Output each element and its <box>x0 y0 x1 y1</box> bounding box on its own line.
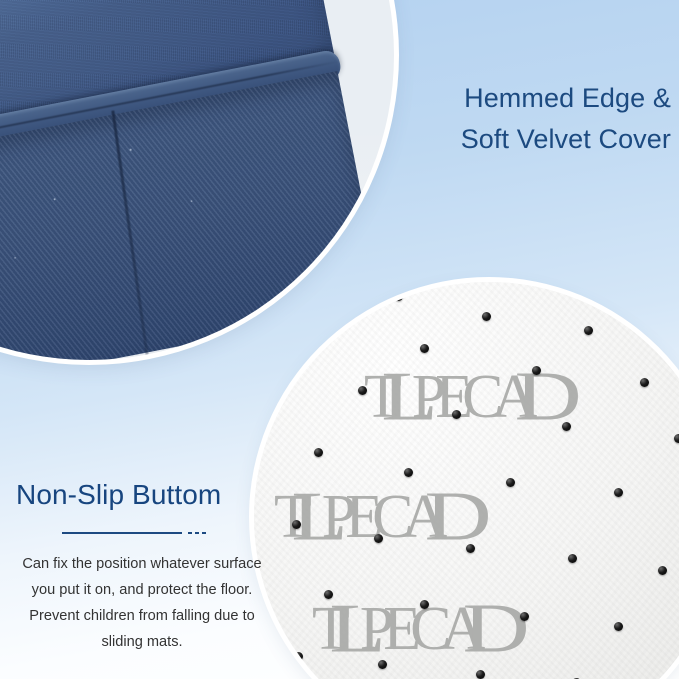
silicone-dot <box>466 544 475 553</box>
divider-dash-1 <box>188 532 192 534</box>
feature-heading-top-line-2: Soft Velvet Cover <box>251 119 671 160</box>
silicone-dot <box>482 312 491 321</box>
silicone-dot <box>378 660 387 669</box>
feature-body-line-4: sliding mats. <box>16 630 268 656</box>
silicone-dot <box>358 386 367 395</box>
silicone-dot <box>314 448 323 457</box>
feature-body-line-1: Can fix the position whatever surface <box>16 552 268 578</box>
feature-heading-top-line-1: Hemmed Edge & <box>251 78 671 119</box>
silicone-dot <box>584 326 593 335</box>
feature-body-non-slip: Can fix the position whatever surface yo… <box>16 552 268 656</box>
feature-heading-non-slip: Non-Slip Buttom <box>16 478 272 512</box>
silicone-dot <box>420 344 429 353</box>
silicone-dot <box>476 670 485 679</box>
silicone-dot <box>520 612 529 621</box>
silicone-dot-grid <box>254 282 679 679</box>
silicone-dot <box>658 566 667 575</box>
silicone-dot <box>404 468 413 477</box>
feature-block-bottom-left: Non-Slip Buttom Can fix the position wha… <box>16 478 272 656</box>
silicone-dot <box>394 292 403 301</box>
silicone-dot <box>292 520 301 529</box>
divider-dash-3 <box>202 532 206 534</box>
divider-dash-2 <box>195 532 199 534</box>
silicone-dot <box>562 422 571 431</box>
infographic-canvas: TLPECAD TLPECAD TLPECAD <box>0 0 679 679</box>
silicone-dot <box>614 622 623 631</box>
silicone-dot <box>674 434 679 443</box>
feature-heading-top: Hemmed Edge & Soft Velvet Cover <box>251 78 671 160</box>
feature-body-line-2: you put it on, and protect the floor. <box>16 578 268 604</box>
silicone-dot <box>506 478 515 487</box>
silicone-dot <box>532 366 541 375</box>
silicone-dot <box>324 590 333 599</box>
feature-body-line-3: Prevent children from falling due to <box>16 604 268 630</box>
silicone-dot <box>294 652 303 661</box>
silicone-dot <box>660 300 669 309</box>
non-slip-mat-photo-circle: TLPECAD TLPECAD TLPECAD <box>254 282 679 679</box>
silicone-dot <box>452 410 461 419</box>
heading-divider <box>62 528 214 538</box>
silicone-dot <box>568 554 577 563</box>
silicone-dot <box>614 488 623 497</box>
silicone-dot <box>374 534 383 543</box>
divider-bar <box>62 532 182 534</box>
silicone-dot <box>420 600 429 609</box>
silicone-dot <box>640 378 649 387</box>
